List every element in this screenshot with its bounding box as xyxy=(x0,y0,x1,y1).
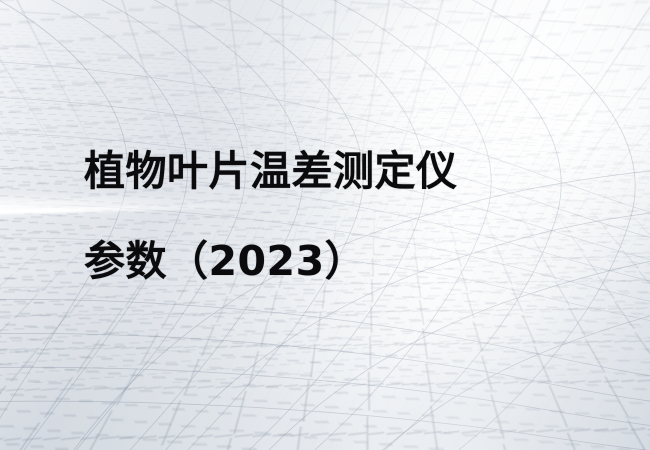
page-title-line-2: 参数（2023） xyxy=(84,216,604,306)
title-block: 植物叶片温差测定仪 参数（2023） xyxy=(84,126,604,306)
title-slide: 植物叶片温差测定仪 参数（2023） xyxy=(0,0,650,450)
page-title-line-1: 植物叶片温差测定仪 xyxy=(84,126,604,216)
